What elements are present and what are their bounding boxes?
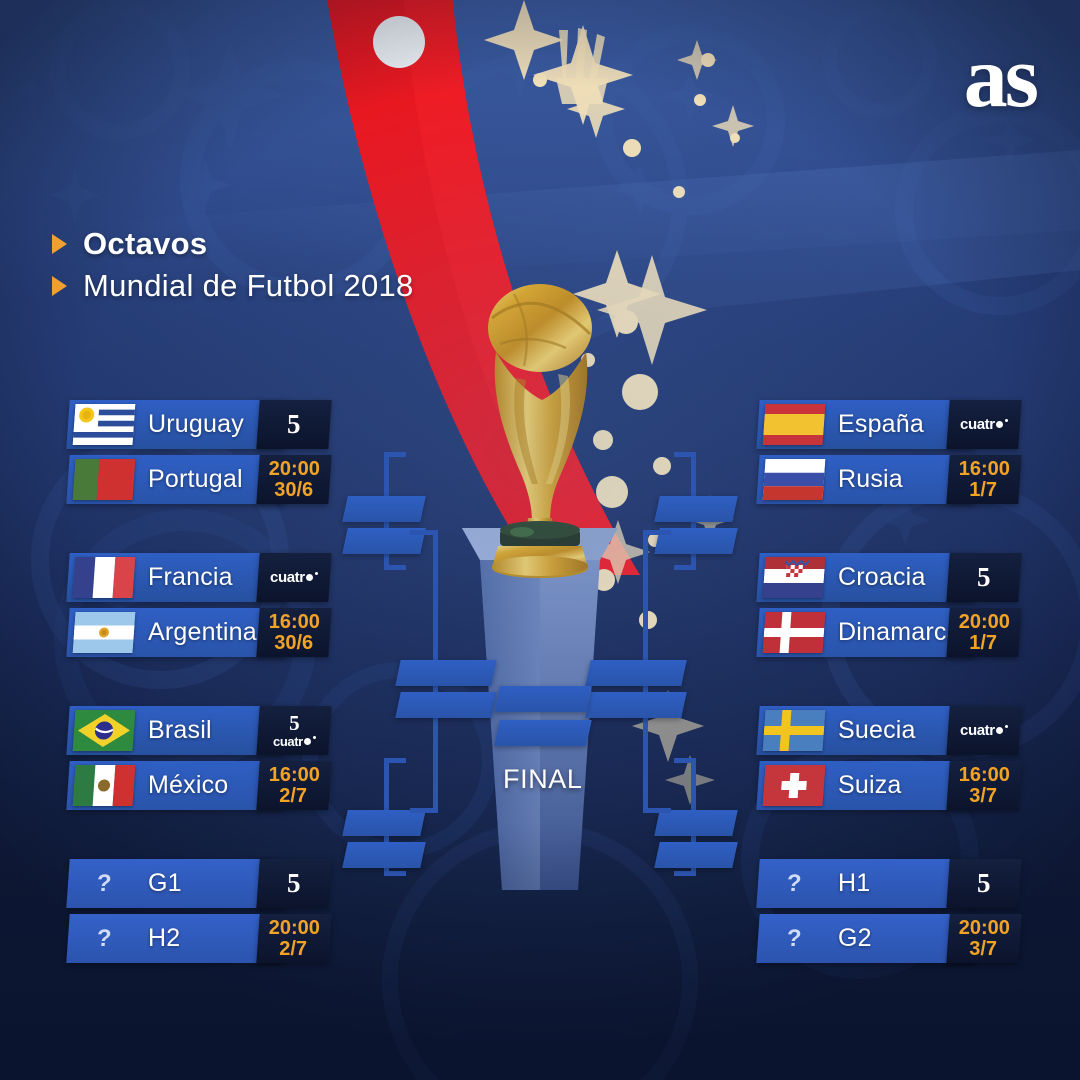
- telecinco-logo-icon: 5: [977, 564, 991, 591]
- team-row[interactable]: ?G15: [68, 859, 330, 908]
- team-name: México: [148, 761, 228, 810]
- kickoff-box: 20:002/7: [256, 914, 331, 963]
- quarterfinal-slot: [342, 496, 426, 522]
- bracket-line: [410, 530, 438, 535]
- team-row[interactable]: Brasil5cuatr: [68, 706, 330, 755]
- header-block: Octavos Mundial de Futbol 2018: [52, 226, 414, 310]
- channel-logos-group: 5cuatr: [273, 713, 316, 748]
- quarterfinal-slot: [654, 810, 738, 836]
- kickoff-time: 16:00: [269, 765, 320, 785]
- kickoff-time: 20:00: [269, 918, 320, 938]
- channel-box: cuatr: [946, 400, 1021, 449]
- unknown-team-icon: ?: [73, 918, 136, 959]
- unknown-team-icon: ?: [763, 863, 826, 904]
- team-name: Uruguay: [148, 400, 244, 449]
- team-row[interactable]: Argentina16:0030/6: [68, 608, 330, 657]
- team-row[interactable]: Portugal20:0030/6: [68, 455, 330, 504]
- flag-rusia-icon: [763, 459, 826, 500]
- team-row[interactable]: ?G220:003/7: [758, 914, 1020, 963]
- kickoff-date: 1/7: [969, 633, 997, 653]
- team-name: Argentina: [148, 608, 257, 657]
- cuatro-logo-icon: cuatr: [960, 417, 1008, 432]
- team-name: Francia: [148, 553, 233, 602]
- page-subtitle: Mundial de Futbol 2018: [83, 268, 414, 304]
- flag-mexico-icon: [73, 765, 136, 806]
- team-row[interactable]: Franciacuatr: [68, 553, 330, 602]
- flag-argentina-icon: [73, 612, 136, 653]
- match-3-left[interactable]: Brasil5cuatrMéxico16:002/7: [68, 706, 330, 814]
- as-logo[interactable]: as: [964, 34, 1036, 122]
- bracket-line: [643, 530, 671, 535]
- kickoff-time: 20:00: [269, 459, 320, 479]
- kickoff-time: 16:00: [269, 612, 320, 632]
- unknown-team-icon: ?: [763, 918, 826, 959]
- channel-box: 5: [256, 859, 331, 908]
- semifinal-slot: [395, 692, 497, 718]
- telecinco-logo-icon: 5: [287, 411, 301, 438]
- final-slot: [494, 686, 592, 712]
- bracket-line: [384, 758, 406, 763]
- cuatro-logo-icon: cuatr: [960, 723, 1008, 738]
- bracket-line: [674, 871, 696, 876]
- team-row[interactable]: Dinamarca20:001/7: [758, 608, 1020, 657]
- semifinal-slot: [585, 692, 687, 718]
- quarterfinal-slot: [654, 842, 738, 868]
- team-name: Rusia: [838, 455, 903, 504]
- kickoff-box: 16:003/7: [946, 761, 1021, 810]
- kickoff-date: 1/7: [969, 480, 997, 500]
- team-row[interactable]: ?H220:002/7: [68, 914, 330, 963]
- bracket-line: [674, 452, 696, 457]
- bracket-line: [643, 808, 671, 813]
- team-name: Brasil: [148, 706, 212, 755]
- flag-suiza-icon: [763, 765, 826, 806]
- channel-box: 5: [256, 400, 331, 449]
- match-1-left[interactable]: Uruguay5Portugal20:0030/6: [68, 400, 330, 508]
- bracket-line: [384, 565, 406, 570]
- team-row[interactable]: Sueciacuatr: [758, 706, 1020, 755]
- kickoff-date: 30/6: [274, 633, 313, 653]
- final-slot: [494, 720, 592, 746]
- team-row[interactable]: México16:002/7: [68, 761, 330, 810]
- flag-francia-icon: [73, 557, 136, 598]
- team-name: España: [838, 400, 924, 449]
- kickoff-time: 16:00: [959, 765, 1010, 785]
- team-row[interactable]: Suiza16:003/7: [758, 761, 1020, 810]
- bracket-line: [384, 871, 406, 876]
- team-name: Dinamarca: [838, 608, 961, 657]
- bracket-line: [674, 758, 696, 763]
- title-row-primary: Octavos: [52, 226, 414, 262]
- kickoff-box: 16:001/7: [946, 455, 1021, 504]
- team-name: G1: [148, 859, 182, 908]
- channel-box: cuatr: [946, 706, 1021, 755]
- bracket-line: [410, 808, 438, 813]
- cuatro-logo-icon: cuatr: [270, 570, 318, 585]
- team-row[interactable]: Rusia16:001/7: [758, 455, 1020, 504]
- kickoff-time: 16:00: [959, 459, 1010, 479]
- team-name: Suecia: [838, 706, 916, 755]
- kickoff-box: 20:003/7: [946, 914, 1021, 963]
- flag-portugal-icon: [73, 459, 136, 500]
- kickoff-time: 20:00: [959, 612, 1010, 632]
- channel-box: 5: [946, 553, 1021, 602]
- flag-suecia-icon: [763, 710, 826, 751]
- match-2-right[interactable]: Croacia5Dinamarca20:001/7: [758, 553, 1020, 661]
- match-1-right[interactable]: EspañacuatrRusia16:001/7: [758, 400, 1020, 508]
- kickoff-date: 3/7: [969, 786, 997, 806]
- bracket-line: [674, 565, 696, 570]
- title-row-secondary: Mundial de Futbol 2018: [52, 268, 414, 304]
- team-name: G2: [838, 914, 872, 963]
- quarterfinal-slot: [654, 496, 738, 522]
- team-name: H2: [148, 914, 180, 963]
- kickoff-box: 20:0030/6: [256, 455, 331, 504]
- team-name: Portugal: [148, 455, 243, 504]
- cuatro-logo-icon: cuatr: [273, 735, 316, 748]
- semifinal-slot: [395, 660, 497, 686]
- quarterfinal-slot: [342, 810, 426, 836]
- unknown-team-icon: ?: [73, 863, 136, 904]
- match-4-left[interactable]: ?G15?H220:002/7: [68, 859, 330, 967]
- kickoff-date: 30/6: [274, 480, 313, 500]
- infographic-root: as Octavos Mundial de Futbol 2018: [0, 0, 1080, 1080]
- match-3-right[interactable]: SueciacuatrSuiza16:003/7: [758, 706, 1020, 814]
- team-row[interactable]: ?H15: [758, 859, 1020, 908]
- team-row[interactable]: Uruguay5: [68, 400, 330, 449]
- channel-box: 5cuatr: [256, 706, 331, 755]
- telecinco-logo-icon: 5: [977, 870, 991, 897]
- flag-espana-icon: [763, 404, 826, 445]
- team-name: Suiza: [838, 761, 902, 810]
- flag-croacia-icon: [763, 557, 826, 598]
- flag-brasil-icon: [73, 710, 136, 751]
- semifinal-slot: [585, 660, 687, 686]
- team-name: H1: [838, 859, 870, 908]
- team-name: Croacia: [838, 553, 926, 602]
- kickoff-box: 16:002/7: [256, 761, 331, 810]
- match-4-right[interactable]: ?H15?G220:003/7: [758, 859, 1020, 967]
- bracket-line: [384, 452, 406, 457]
- team-row[interactable]: Españacuatr: [758, 400, 1020, 449]
- telecinco-logo-icon: 5: [287, 870, 301, 897]
- flag-uruguay-icon: [73, 404, 136, 445]
- page-title: Octavos: [83, 226, 207, 262]
- kickoff-box: 16:0030/6: [256, 608, 331, 657]
- triangle-bullet-icon: [52, 276, 67, 296]
- team-row[interactable]: Croacia5: [758, 553, 1020, 602]
- kickoff-time: 20:00: [959, 918, 1010, 938]
- channel-box: 5: [946, 859, 1021, 908]
- kickoff-box: 20:001/7: [946, 608, 1021, 657]
- kickoff-date: 2/7: [279, 939, 307, 959]
- quarterfinal-slot: [342, 842, 426, 868]
- telecinco-logo-icon: 5: [289, 713, 300, 734]
- flag-dinamarca-icon: [763, 612, 826, 653]
- match-2-left[interactable]: FranciacuatrArgentina16:0030/6: [68, 553, 330, 661]
- final-label: FINAL: [503, 764, 583, 795]
- channel-box: cuatr: [256, 553, 331, 602]
- kickoff-date: 3/7: [969, 939, 997, 959]
- kickoff-date: 2/7: [279, 786, 307, 806]
- triangle-bullet-icon: [52, 234, 67, 254]
